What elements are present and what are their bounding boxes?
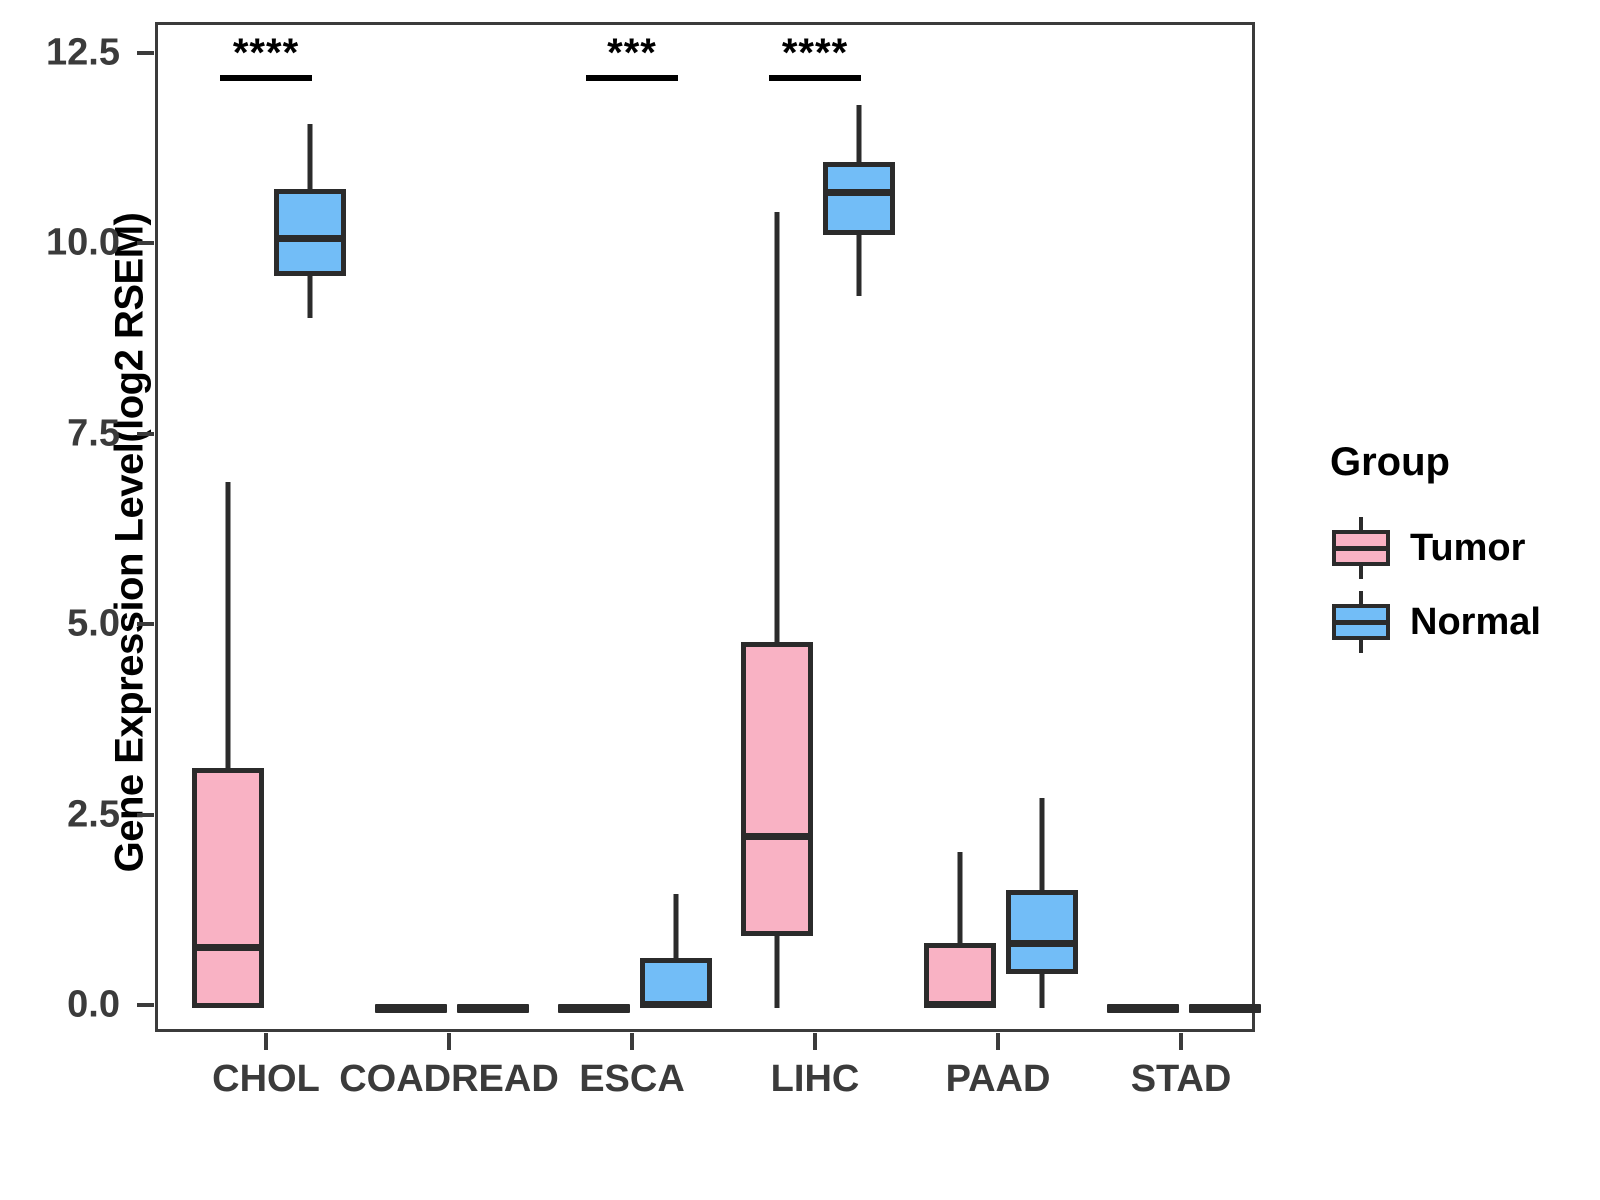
y-axis-tick-mark [137, 622, 154, 626]
x-axis-tick-mark-chol [264, 1033, 268, 1050]
legend-key-normal [1330, 591, 1392, 653]
x-axis-tick-mark-paad [996, 1033, 1000, 1050]
significance-bar-esca [586, 75, 678, 81]
legend-median-line [1332, 546, 1390, 551]
x-axis-tick-label-stad: STAD [1131, 1058, 1232, 1101]
y-axis-tick-label: 5.0 [10, 603, 120, 646]
x-axis-tick-label-chol: CHOL [212, 1058, 320, 1101]
boxplot-stad-normal[interactable] [158, 25, 1252, 1029]
legend-item-tumor[interactable]: Tumor [1330, 511, 1590, 585]
significance-stars-lihc: **** [782, 33, 848, 73]
legend-median-line [1332, 620, 1390, 625]
x-axis-tick-label-coadread: COADREAD [339, 1058, 559, 1101]
legend-label: Normal [1410, 601, 1541, 644]
y-axis-tick-label: 2.5 [10, 793, 120, 836]
y-axis-tick-label: 0.0 [10, 984, 120, 1027]
y-axis-tick-mark [137, 813, 154, 817]
significance-bar-chol [220, 75, 312, 81]
y-axis-tick-mark [137, 432, 154, 436]
plot-area [158, 25, 1252, 1029]
legend: Group TumorNormal [1330, 440, 1590, 659]
legend-key-tumor [1330, 517, 1392, 579]
x-axis-tick-mark-esca [630, 1033, 634, 1050]
y-axis-tick-mark [137, 241, 154, 245]
significance-stars-esca: *** [607, 33, 657, 73]
x-axis-tick-mark-stad [1179, 1033, 1183, 1050]
plot-panel [155, 22, 1255, 1032]
significance-stars-chol: **** [233, 33, 299, 73]
box-flat-line [1189, 1004, 1261, 1013]
y-axis-tick-label: 10.0 [10, 222, 120, 265]
x-axis-tick-label-esca: ESCA [579, 1058, 685, 1101]
chart-root: Gene Expression Level(log2 RSEM) 0.02.55… [0, 0, 1600, 1200]
x-axis-tick-label-paad: PAAD [946, 1058, 1051, 1101]
y-axis-tick-label: 7.5 [10, 412, 120, 455]
x-axis-tick-label-lihc: LIHC [771, 1058, 860, 1101]
y-axis-tick-label: 12.5 [10, 31, 120, 74]
legend-items: TumorNormal [1330, 511, 1590, 659]
x-axis-tick-mark-coadread [447, 1033, 451, 1050]
legend-item-normal[interactable]: Normal [1330, 585, 1590, 659]
significance-bar-lihc [769, 75, 861, 81]
y-axis-tick-mark [137, 51, 154, 55]
y-axis-tick-mark [137, 1003, 154, 1007]
legend-title: Group [1330, 440, 1590, 485]
legend-label: Tumor [1410, 527, 1525, 570]
x-axis-tick-mark-lihc [813, 1033, 817, 1050]
